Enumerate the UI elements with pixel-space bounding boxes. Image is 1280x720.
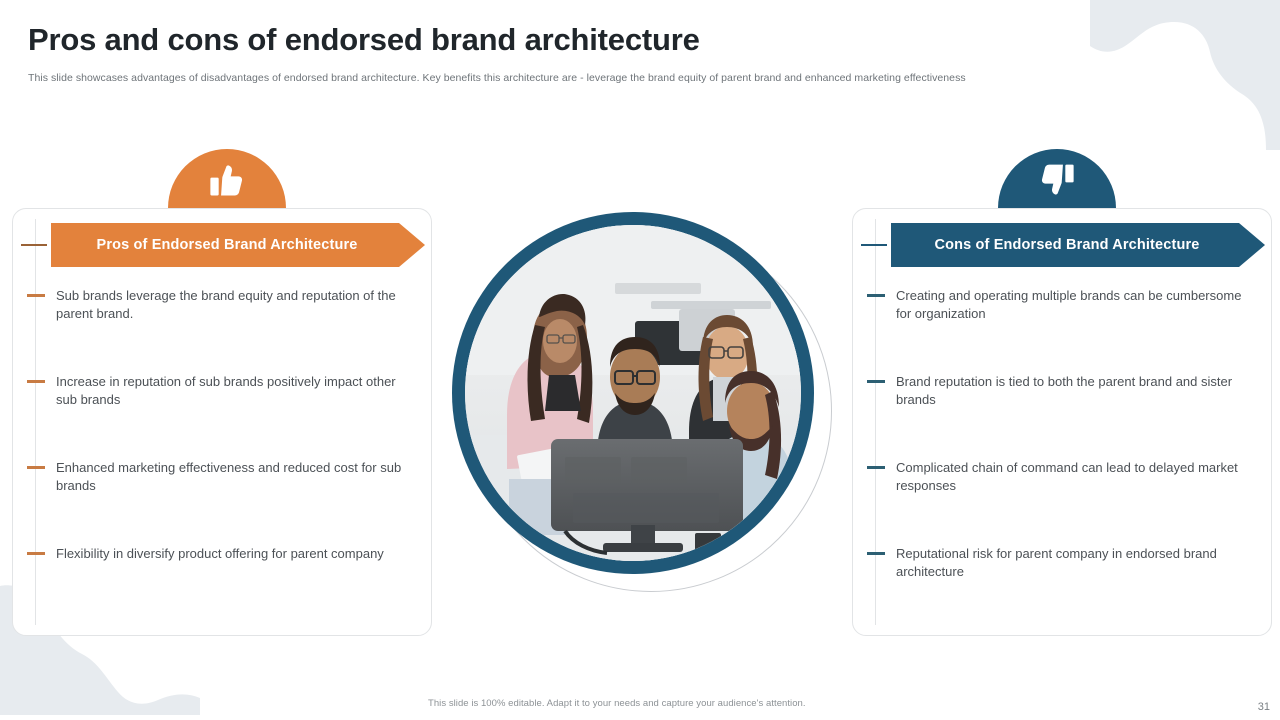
pros-banner-connector — [21, 244, 47, 246]
cons-banner-label: Cons of Endorsed Brand Architecture — [935, 237, 1200, 253]
footer-note: This slide is 100% editable. Adapt it to… — [428, 698, 806, 709]
bullet-dash-icon — [27, 294, 45, 297]
center-photo — [452, 212, 852, 612]
bullet-dash-icon — [27, 466, 45, 469]
slide-header: Pros and cons of endorsed brand architec… — [28, 22, 1128, 85]
list-item: Enhanced marketing effectiveness and red… — [27, 455, 419, 541]
cons-banner[interactable]: Cons of Endorsed Brand Architecture — [891, 223, 1265, 267]
list-item: Flexibility in diversify product offerin… — [27, 541, 419, 627]
cons-banner-connector — [861, 244, 887, 246]
slide-subtitle: This slide showcases advantages of disad… — [28, 72, 1128, 86]
bullet-text: Complicated chain of command can lead to… — [896, 459, 1248, 495]
list-item: Brand reputation is tied to both the par… — [867, 369, 1259, 455]
bullet-dash-icon — [867, 380, 885, 383]
thumbs-down-icon — [1038, 161, 1076, 199]
bullet-dash-icon — [27, 552, 45, 555]
pros-banner[interactable]: Pros of Endorsed Brand Architecture — [51, 223, 425, 267]
page-number: 31 — [1258, 701, 1270, 713]
pros-panel: Pros of Endorsed Brand Architecture Sub … — [12, 208, 432, 636]
list-item: Increase in reputation of sub brands pos… — [27, 369, 419, 455]
page-title: Pros and cons of endorsed brand architec… — [28, 22, 1128, 58]
bullet-text: Enhanced marketing effectiveness and red… — [56, 459, 408, 495]
pros-bullet-list: Sub brands leverage the brand equity and… — [27, 283, 419, 627]
pros-banner-wrap: Pros of Endorsed Brand Architecture — [21, 223, 425, 267]
pros-banner-label: Pros of Endorsed Brand Architecture — [97, 237, 358, 253]
bullet-dash-icon — [867, 552, 885, 555]
thumbs-up-icon — [208, 161, 246, 199]
bullet-text: Increase in reputation of sub brands pos… — [56, 373, 408, 409]
bullet-dash-icon — [867, 466, 885, 469]
cons-banner-wrap: Cons of Endorsed Brand Architecture — [861, 223, 1265, 267]
list-item: Reputational risk for parent company in … — [867, 541, 1259, 627]
photo-ring — [452, 212, 814, 574]
bullet-dash-icon — [27, 380, 45, 383]
bullet-dash-icon — [867, 294, 885, 297]
cons-panel: Cons of Endorsed Brand Architecture Crea… — [852, 208, 1272, 636]
bullet-text: Brand reputation is tied to both the par… — [896, 373, 1248, 409]
bullet-text: Reputational risk for parent company in … — [896, 545, 1248, 581]
list-item: Sub brands leverage the brand equity and… — [27, 283, 419, 369]
bullet-text: Flexibility in diversify product offerin… — [56, 545, 384, 563]
photo-image — [465, 225, 801, 561]
bullet-text: Creating and operating multiple brands c… — [896, 287, 1248, 323]
list-item: Creating and operating multiple brands c… — [867, 283, 1259, 369]
cons-bullet-list: Creating and operating multiple brands c… — [867, 283, 1259, 627]
bullet-text: Sub brands leverage the brand equity and… — [56, 287, 408, 323]
list-item: Complicated chain of command can lead to… — [867, 455, 1259, 541]
